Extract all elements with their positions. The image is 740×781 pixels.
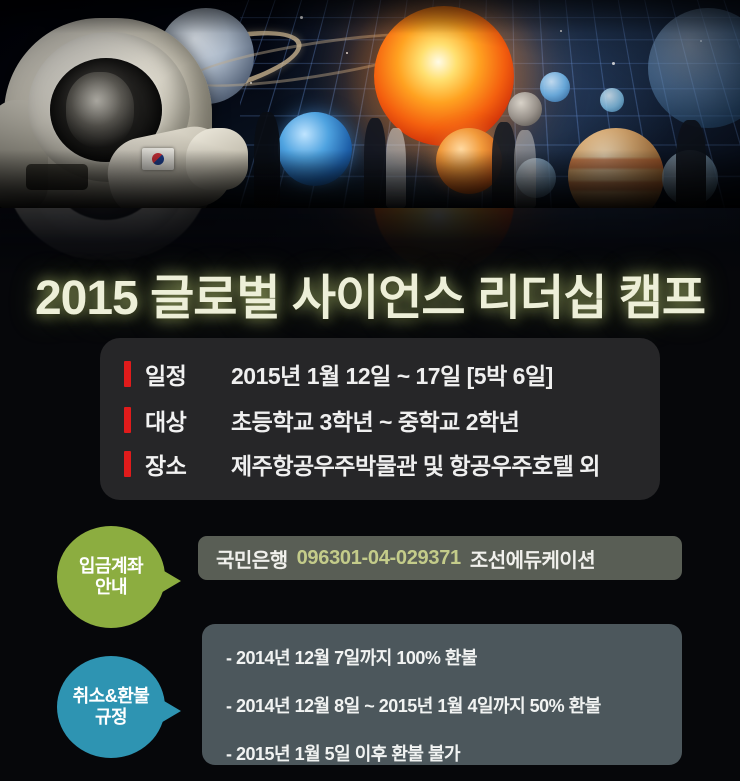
info-value-schedule: 2015년 1월 12일 ~ 17일 [5박 6일] <box>231 357 553 391</box>
info-label-location: 장소 <box>145 447 231 481</box>
info-label-target: 대상 <box>145 403 231 437</box>
refund-policy-panel: - 2014년 12월 7일까지 100% 환불 - 2014년 12월 8일 … <box>202 624 682 765</box>
red-tick-icon <box>124 407 131 433</box>
bank-account-number[interactable]: 096301-04-029371 <box>297 547 461 570</box>
moon-icon <box>508 92 542 126</box>
sun-icon <box>374 6 514 146</box>
bank-bubble-line2: 안내 <box>95 577 127 598</box>
info-panel: 일정 2015년 1월 12일 ~ 17일 [5박 6일] 대상 초등학교 3학… <box>100 338 660 500</box>
red-tick-icon <box>124 361 131 387</box>
bubble-tail-icon <box>159 568 181 594</box>
uranus-icon <box>600 88 624 112</box>
refund-bubble-line1: 취소&환불 <box>73 686 150 707</box>
star-icon <box>612 62 615 65</box>
info-value-target: 초등학교 3학년 ~ 중학교 2학년 <box>231 403 519 437</box>
refund-bubble-line2: 규정 <box>95 707 127 728</box>
info-row: 대상 초등학교 3학년 ~ 중학교 2학년 <box>124 400 519 440</box>
spacesuit-chest-panel <box>26 164 88 190</box>
visitor-silhouette <box>492 122 516 208</box>
refund-line: - 2015년 1월 5일 이후 환불 불가 <box>226 740 682 766</box>
hero-image <box>0 0 740 208</box>
star-icon <box>560 30 562 32</box>
bank-name: 국민은행 <box>216 544 288 573</box>
bank-account-bubble: 입금계좌 안내 <box>57 526 165 628</box>
astronaut-figure <box>0 0 270 208</box>
visitor-silhouette <box>386 128 406 208</box>
visor-reflection <box>66 72 134 148</box>
earth-icon <box>278 112 352 186</box>
star-icon <box>300 16 303 19</box>
info-row: 일정 2015년 1월 12일 ~ 17일 [5박 6일] <box>124 354 553 394</box>
info-value-location: 제주항공우주박물관 및 항공우주호텔 외 <box>231 447 600 481</box>
bank-account-owner: 조선에듀케이션 <box>470 544 595 573</box>
visitor-silhouette <box>676 120 706 208</box>
info-label-schedule: 일정 <box>145 357 231 391</box>
refund-line: - 2014년 12월 8일 ~ 2015년 1월 4일까지 50% 환불 <box>226 692 682 718</box>
page-title: 2015 글로벌 사이언스 리더십 캠프 <box>0 258 740 328</box>
korean-flag-patch-icon <box>142 148 174 170</box>
refund-line: - 2014년 12월 7일까지 100% 환불 <box>226 644 682 670</box>
bank-account-bar: 국민은행 096301-04-029371 조선에듀케이션 <box>198 536 682 580</box>
info-row: 장소 제주항공우주박물관 및 항공우주호텔 외 <box>124 444 600 484</box>
visitor-silhouette <box>364 118 386 208</box>
refund-policy-bubble: 취소&환불 규정 <box>57 656 165 758</box>
neptune-icon <box>540 72 570 102</box>
poster-root: 2015 글로벌 사이언스 리더십 캠프 일정 2015년 1월 12일 ~ 1… <box>0 0 740 781</box>
visitor-silhouette <box>514 130 536 208</box>
spacesuit-glove <box>186 128 248 190</box>
bubble-tail-icon <box>159 698 181 724</box>
red-tick-icon <box>124 451 131 477</box>
bank-bubble-line1: 입금계좌 <box>79 556 143 577</box>
